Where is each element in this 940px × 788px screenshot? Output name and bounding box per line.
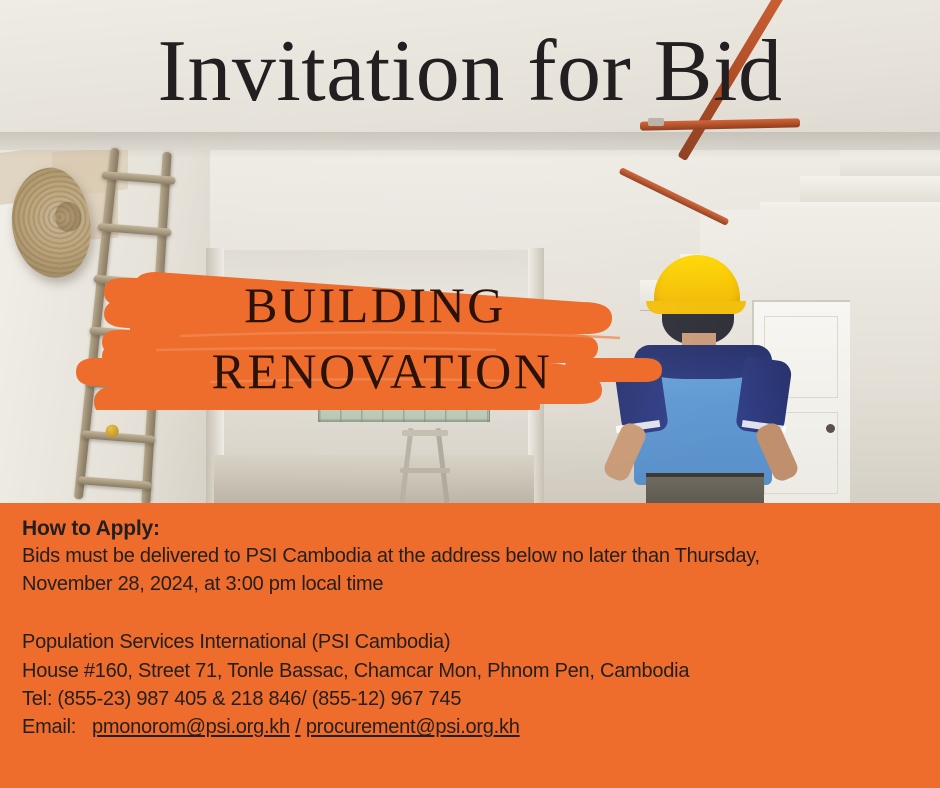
email-link-secondary[interactable]: procurement@psi.org.kh bbox=[306, 716, 520, 738]
contact-block: Population Services International (PSI C… bbox=[22, 628, 918, 742]
banner-text: BUILDING RENOVATION bbox=[60, 272, 690, 404]
apply-instructions: Bids must be delivered to PSI Cambodia a… bbox=[22, 543, 918, 598]
organization-name: Population Services International (PSI C… bbox=[22, 628, 918, 656]
apply-line-2: November 28, 2024, at 3:00 pm local time bbox=[22, 573, 383, 595]
apply-line-1: Bids must be delivered to PSI Cambodia a… bbox=[22, 545, 760, 567]
email-line: Email: pmonorom@psi.org.kh / procurement… bbox=[22, 713, 918, 741]
banner-line-1: BUILDING bbox=[60, 272, 690, 338]
invitation-for-bid-poster: Invitation for Bid BUILDING RENOVATION bbox=[0, 0, 940, 788]
telephone: Tel: (855-23) 987 405 & 218 846/ (855-12… bbox=[22, 685, 918, 713]
door-knob-icon bbox=[826, 424, 835, 433]
email-label: Email: bbox=[22, 716, 76, 738]
apply-panel: How to Apply: Bids must be delivered to … bbox=[0, 503, 940, 788]
page-title: Invitation for Bid bbox=[0, 26, 940, 118]
worker-pants bbox=[646, 477, 764, 503]
debris-counter bbox=[214, 455, 534, 503]
step-ladder bbox=[398, 428, 452, 503]
email-separator: / bbox=[295, 716, 300, 738]
brush-stroke-banner: BUILDING RENOVATION bbox=[60, 258, 690, 410]
street-address: House #160, Street 71, Tonle Bassac, Cha… bbox=[22, 657, 918, 685]
how-to-apply-heading: How to Apply: bbox=[22, 517, 918, 541]
email-link-primary[interactable]: pmonorom@psi.org.kh bbox=[92, 716, 290, 738]
banner-line-2: RENOVATION bbox=[60, 338, 690, 404]
